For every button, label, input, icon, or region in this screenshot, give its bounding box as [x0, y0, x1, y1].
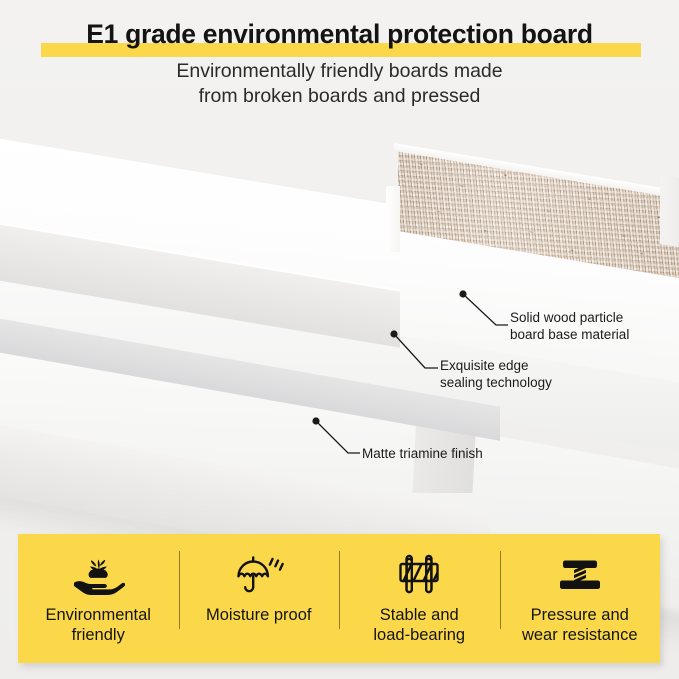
press-top-bar [563, 561, 597, 569]
feature-label-moisture-proof: Moisture proof [206, 605, 311, 625]
feature-label-line-1: Pressure and [531, 606, 629, 624]
annotation-line-2: sealing technology [440, 375, 552, 392]
feature-moisture-proof: Moisture proof [179, 534, 340, 663]
feature-bar: Environmental friendly [18, 534, 660, 663]
feature-label-line-1: Stable and [380, 606, 459, 624]
top-board-right-cap [660, 174, 679, 248]
feature-label-stable-load-bearing: Stable and load-bearing [373, 605, 465, 645]
header: E1 grade environmental protection board … [0, 0, 679, 118]
press-bottom-bar [560, 581, 600, 590]
feature-environmental-friendly: Environmental friendly [18, 534, 179, 663]
page-title: E1 grade environmental protection board [0, 14, 679, 54]
feature-label-line-2: friendly [46, 625, 151, 645]
feature-label-line-1: Environmental [46, 606, 151, 624]
annotation-exquisite-edge: Exquisite edge sealing technology [440, 358, 552, 391]
annotation-matte-triamine: Matte triamine finish [362, 446, 483, 463]
feature-label-pressure-wear-resistance: Pressure and wear resistance [522, 605, 638, 645]
feature-stable-load-bearing: Stable and load-bearing [339, 534, 500, 663]
page-subtitle: Environmentally friendly boards made fro… [0, 59, 679, 109]
annotation-solid-wood-particle: Solid wood particle board base material [510, 310, 629, 343]
edge-sealing-strip-left [386, 186, 400, 252]
feature-pressure-wear-resistance: Pressure and wear resistance [500, 534, 661, 663]
annotation-line-2: board base material [510, 327, 629, 344]
annotation-line-1: Exquisite edge [440, 358, 552, 375]
annotation-line-1: Matte triamine finish [362, 446, 483, 463]
subtitle-line-1: Environmentally friendly boards made [176, 60, 502, 82]
feature-label-line-1: Moisture proof [206, 606, 311, 624]
subtitle-line-2: from broken boards and pressed [0, 84, 679, 109]
barrier-barricade-icon [392, 550, 446, 598]
hand-holding-plant-icon [71, 550, 125, 598]
umbrella-rain-icon [232, 550, 286, 598]
product-infographic: E1 grade environmental protection board … [0, 0, 679, 679]
annotation-line-1: Solid wood particle [510, 310, 629, 327]
page-title-text: E1 grade environmental protection board [0, 14, 679, 54]
feature-label-line-2: load-bearing [373, 625, 465, 645]
feature-label-environmental-friendly: Environmental friendly [46, 605, 151, 645]
feature-label-line-2: wear resistance [522, 625, 638, 645]
compression-press-icon [553, 550, 607, 598]
